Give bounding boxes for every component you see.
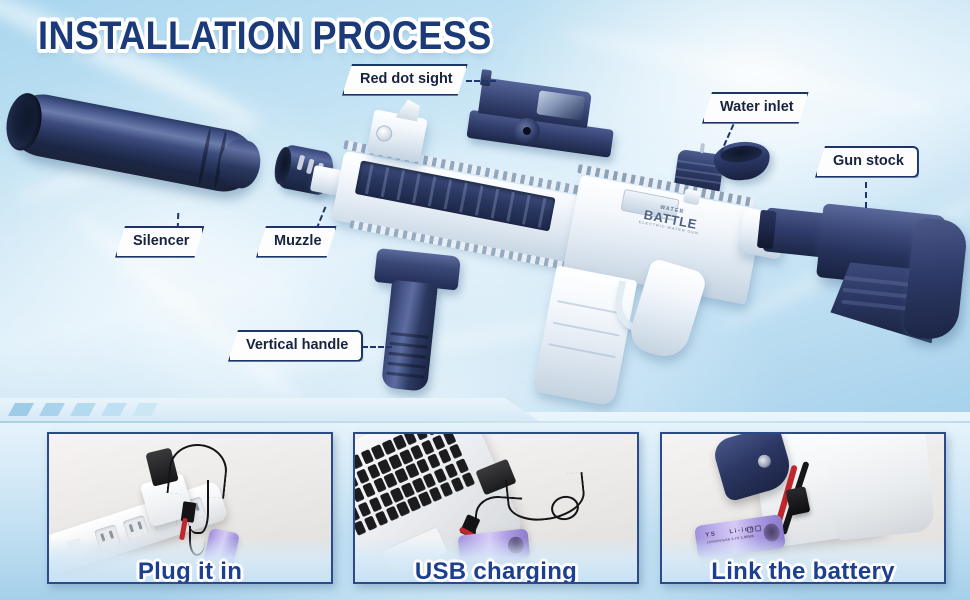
label-red-dot-sight-text: Red dot sight xyxy=(360,71,453,87)
vertical-handle-part xyxy=(363,248,461,394)
label-silencer[interactable]: Silencer xyxy=(115,226,204,258)
gun-body-shell-right xyxy=(825,432,936,541)
label-vertical-handle-text: Vertical handle xyxy=(246,337,348,353)
step-2-photo: USB charging xyxy=(355,434,637,582)
step-1-photo: Plug it in xyxy=(49,434,331,582)
step-1-caption: Plug it in xyxy=(49,558,331,584)
front-sight-knob xyxy=(375,124,394,143)
label-red-dot-sight[interactable]: Red dot sight xyxy=(342,64,468,96)
no-trash-icon xyxy=(755,525,762,532)
infographic-canvas: INSTALLATION PROCESS xyxy=(0,0,970,600)
decorative-bars xyxy=(8,403,158,416)
step-panel-1[interactable]: Plug it in xyxy=(47,432,333,584)
leader-line-gun-stock xyxy=(865,182,867,208)
label-water-inlet[interactable]: Water inlet xyxy=(702,92,809,124)
gun-stock-part xyxy=(753,195,970,364)
leader-line-red-dot-sight xyxy=(466,80,496,82)
label-muzzle-text: Muzzle xyxy=(274,233,322,249)
vertical-handle-shaft xyxy=(381,280,438,392)
label-gun-stock-text: Gun stock xyxy=(833,153,904,169)
label-water-inlet-text: Water inlet xyxy=(720,99,794,115)
step-panel-3[interactable]: YS Li-ion 1800500mAh 3.7V 1.85Wh Link th… xyxy=(660,432,946,584)
step-3-photo: YS Li-ion 1800500mAh 3.7V 1.85Wh Link th… xyxy=(662,434,944,582)
step-panel-2[interactable]: USB charging xyxy=(353,432,639,584)
step-2-caption: USB charging xyxy=(355,558,637,584)
label-muzzle[interactable]: Muzzle xyxy=(256,226,337,258)
stock-buttplate xyxy=(902,217,968,342)
power-socket xyxy=(122,515,149,541)
forward-assist xyxy=(683,189,701,206)
label-gun-stock[interactable]: Gun stock xyxy=(815,146,919,178)
recycle-icon xyxy=(747,526,754,533)
step-3-caption: Link the battery xyxy=(662,558,944,584)
leader-line-vertical-handle xyxy=(362,346,392,348)
label-silencer-text: Silencer xyxy=(133,233,189,249)
page-title: INSTALLATION PROCESS xyxy=(38,14,492,59)
section-divider-line xyxy=(0,421,970,423)
label-vertical-handle[interactable]: Vertical handle xyxy=(228,330,363,362)
